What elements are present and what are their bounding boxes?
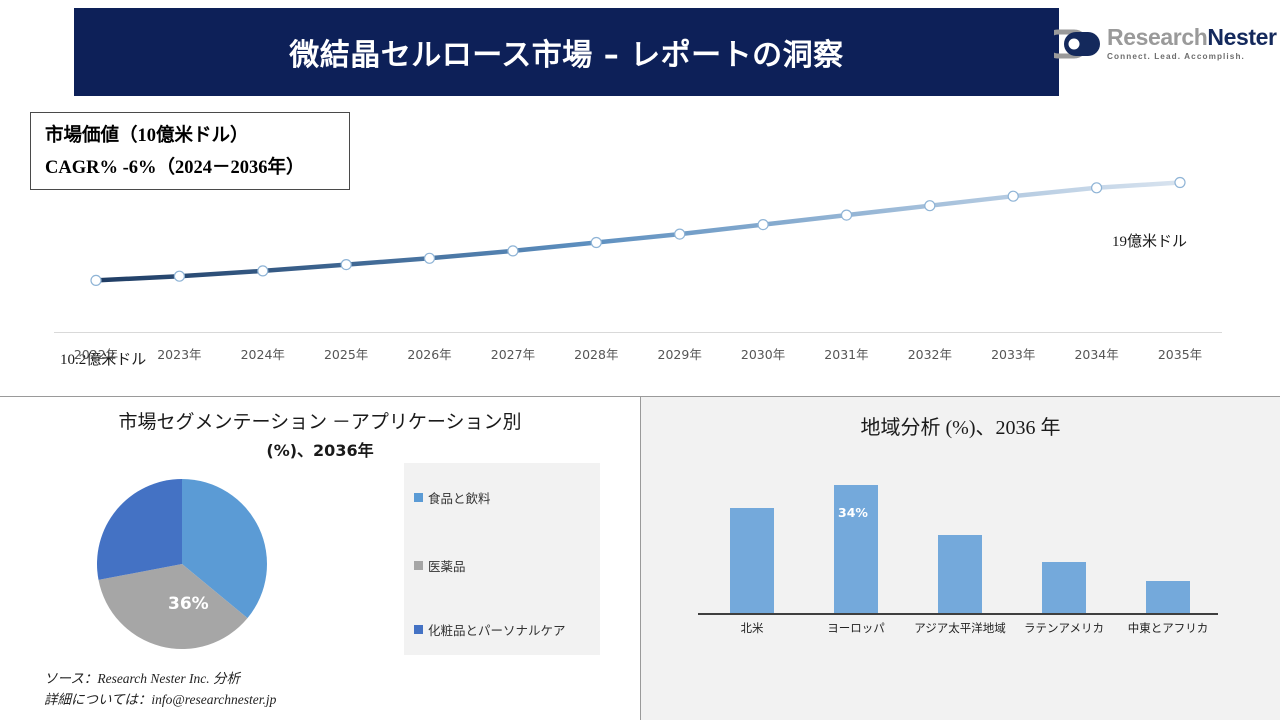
page-title: 微結晶セルロース市場 – レポートの洞察 <box>289 30 843 74</box>
segmentation-title-main: 市場セグメンテーション －アプリケーション別 <box>119 412 522 433</box>
line-end-value-label: 19億米ドル <box>1112 230 1187 251</box>
market-value-line-chart: 10.2億米ドル 19億米ドル <box>0 100 1280 375</box>
line-data-point-1 <box>174 271 184 281</box>
header-banner: 微結晶セルロース市場 – レポートの洞察 <box>74 8 1059 96</box>
logo-text: ResearchNester Connect. Lead. Accomplish… <box>1107 26 1277 61</box>
bar-0[interactable] <box>730 508 774 615</box>
legend-item-2[interactable]: 化粧品とパーソナルケア <box>414 620 566 639</box>
logo-tagline: Connect. Lead. Accomplish. <box>1107 53 1277 61</box>
line-x-tick-13: 2035年 <box>1158 344 1202 363</box>
pie-data-label: 36% <box>168 594 209 614</box>
line-data-point-0 <box>91 275 101 285</box>
bar-chart-x-tick-labels: 北米ヨーロッパアジア太平洋地域ラテンアメリカ中東とアフリカ <box>698 620 1218 642</box>
logo-mark-icon <box>1054 26 1100 62</box>
legend-swatch-icon-1 <box>414 561 423 570</box>
bar-x-tick-3: ラテンアメリカ <box>1024 620 1104 636</box>
region-panel-title: 地域分析 (%)、2036 年 <box>641 411 1280 440</box>
legend-swatch-icon-2 <box>414 625 423 634</box>
line-data-point-5 <box>508 246 518 256</box>
line-data-point-10 <box>925 201 935 211</box>
line-data-point-4 <box>425 253 435 263</box>
line-x-tick-3: 2025年 <box>324 344 368 363</box>
line-x-tick-9: 2031年 <box>824 344 868 363</box>
bar-4[interactable] <box>1146 581 1190 615</box>
source-line-2: 詳細については：info@researchnester.jp <box>44 689 276 710</box>
source-line-1: ソース：Research Nester Inc. 分析 <box>44 668 276 689</box>
application-pie-chart <box>96 478 268 650</box>
line-data-point-3 <box>341 260 351 270</box>
line-data-point-13 <box>1175 178 1185 188</box>
line-data-point-6 <box>591 238 601 248</box>
line-chart-svg <box>0 100 1280 375</box>
segmentation-panel-title: 市場セグメンテーション －アプリケーション別 (%)、2036年 <box>30 409 610 465</box>
line-x-tick-12: 2034年 <box>1074 344 1118 363</box>
line-x-tick-1: 2023年 <box>157 344 201 363</box>
bar-3[interactable] <box>1042 562 1086 615</box>
line-data-point-12 <box>1092 183 1102 193</box>
line-x-tick-7: 2029年 <box>658 344 702 363</box>
legend-item-0[interactable]: 食品と飲料 <box>414 488 491 507</box>
legend-label-2: 化粧品とパーソナルケア <box>428 620 566 639</box>
pie-chart-svg <box>96 478 268 650</box>
infographic-page: 微結晶セルロース市場 – レポートの洞察 ResearchNester Conn… <box>0 0 1280 720</box>
legend-label-0: 食品と飲料 <box>428 488 491 507</box>
line-x-tick-6: 2028年 <box>574 344 618 363</box>
logo-word-nester: Nester <box>1207 24 1276 50</box>
line-x-tick-8: 2030年 <box>741 344 785 363</box>
legend-item-1[interactable]: 医薬品 <box>414 556 466 575</box>
bar-chart-baseline <box>698 613 1218 615</box>
line-data-point-11 <box>1008 191 1018 201</box>
pie-slice-2[interactable] <box>97 479 182 580</box>
line-x-tick-4: 2026年 <box>407 344 451 363</box>
line-chart-x-axis <box>54 332 1222 333</box>
line-x-tick-5: 2027年 <box>491 344 535 363</box>
logo-wordmark: ResearchNester <box>1107 26 1277 49</box>
line-data-point-9 <box>842 210 852 220</box>
pie-legend: 食品と飲料 医薬品 化粧品とパーソナルケア <box>404 463 600 655</box>
bar-2[interactable] <box>938 535 982 615</box>
line-data-point-7 <box>675 229 685 239</box>
legend-label-1: 医薬品 <box>428 556 466 575</box>
line-chart-x-tick-labels: 2022年2023年2024年2025年2026年2027年2028年2029年… <box>54 344 1222 368</box>
source-note: ソース：Research Nester Inc. 分析 詳細については：info… <box>44 668 276 710</box>
brand-logo: ResearchNester Connect. Lead. Accomplish… <box>1054 16 1272 72</box>
bar-x-tick-0: 北米 <box>741 620 764 636</box>
line-x-tick-0: 2022年 <box>74 344 118 363</box>
segmentation-title-sub: (%)、2036年 <box>266 441 373 460</box>
region-bar-chart: 34% <box>700 470 1220 615</box>
line-x-tick-11: 2033年 <box>991 344 1035 363</box>
line-x-tick-2: 2024年 <box>241 344 285 363</box>
bar-data-label: 34% <box>838 505 868 520</box>
logo-word-research: Research <box>1107 24 1207 50</box>
bar-x-tick-1: ヨーロッパ <box>827 620 885 636</box>
line-data-point-8 <box>758 220 768 230</box>
line-x-tick-10: 2032年 <box>908 344 952 363</box>
line-data-point-2 <box>258 266 268 276</box>
bar-x-tick-4: 中東とアフリカ <box>1128 620 1209 636</box>
bar-x-tick-2: アジア太平洋地域 <box>914 620 1006 636</box>
legend-swatch-icon-0 <box>414 493 423 502</box>
